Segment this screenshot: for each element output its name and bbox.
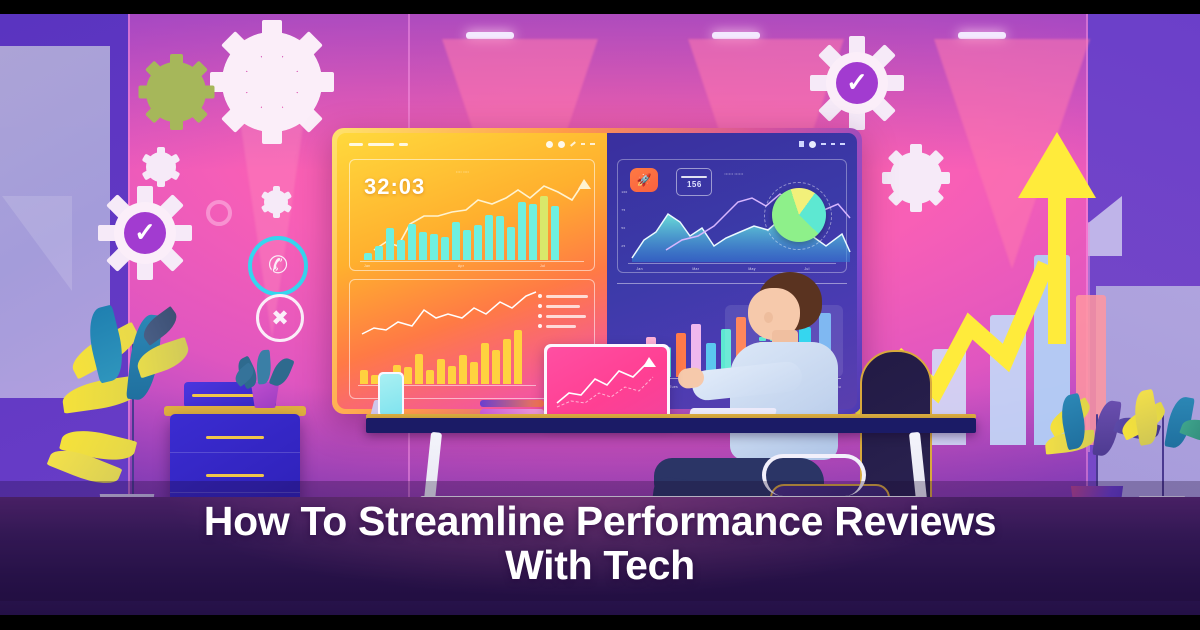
right-toolbar	[607, 133, 857, 155]
left-toolbar-icons[interactable]	[546, 141, 595, 148]
left-bar-series	[364, 188, 559, 260]
illustration-canvas: ✓ ✆ ✖ ✓	[0, 0, 1200, 630]
gear-icon	[890, 152, 942, 204]
letterbox-bottom	[0, 615, 1200, 630]
ceiling-lamp-2	[712, 32, 760, 39]
ceiling-lamp-3	[958, 32, 1006, 39]
desk-monitor-line-chart	[553, 353, 659, 411]
gear-icon	[146, 152, 176, 182]
ceiling-lamp-1	[466, 32, 514, 39]
page-title: How To Streamline Performance Reviews Wi…	[0, 500, 1200, 587]
page-title-line-2: With Tech	[110, 544, 1090, 587]
desk-monitor[interactable]	[544, 344, 670, 422]
smartphone[interactable]	[378, 372, 404, 418]
gear-check-icon: ✓	[108, 196, 182, 270]
gear-icon	[146, 62, 206, 122]
legend-item	[538, 294, 588, 298]
torso-shirt	[730, 342, 838, 460]
desk-top	[366, 418, 976, 433]
ear	[764, 312, 773, 323]
right-chart-card: 🚀 156 •••••• ••••••	[617, 159, 847, 273]
left-legend	[538, 294, 588, 328]
legend-item	[538, 314, 588, 318]
left-toolbar	[337, 133, 607, 155]
right-toolbar-icons[interactable]	[799, 141, 845, 148]
phone-icon: ✆	[248, 236, 308, 296]
left-chart-card: 32:03 •••• ••••	[349, 159, 595, 271]
gear-icon	[264, 190, 288, 214]
left-chart-caption: •••• ••••	[456, 170, 469, 174]
page-title-line-1: How To Streamline Performance Reviews	[110, 500, 1090, 543]
artwork: ✓ ✆ ✖ ✓	[0, 14, 1200, 615]
letterbox-top	[0, 0, 1200, 14]
legend-item	[538, 324, 588, 328]
gear-icon	[206, 200, 232, 226]
network-icon: ✖	[256, 294, 304, 342]
left-toolbar-lines	[349, 143, 408, 146]
gear-icon	[222, 32, 322, 132]
gear-check-icon: ✓	[820, 46, 894, 120]
pie-chart	[772, 188, 826, 242]
right-chart-caption: •••••• ••••••	[724, 172, 743, 176]
legend-item	[538, 304, 588, 308]
cabinet-upper-line	[192, 394, 260, 397]
